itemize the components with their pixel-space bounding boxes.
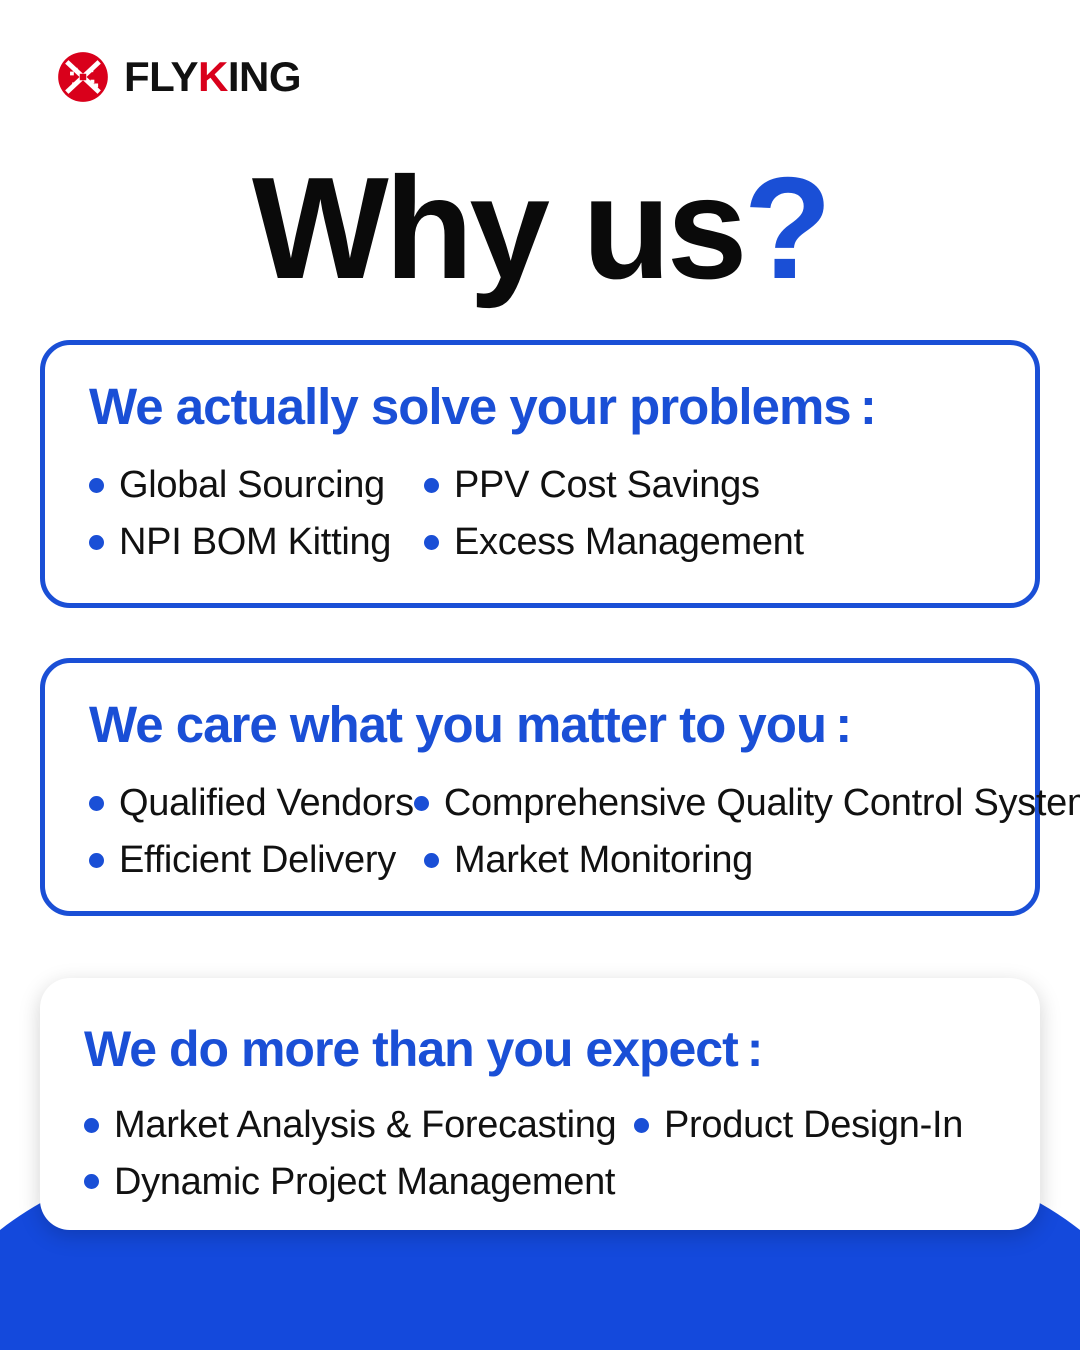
bullet-item: NPI BOM Kitting bbox=[89, 518, 424, 567]
bullet-dot-icon bbox=[634, 1118, 649, 1133]
bullet-item: Global Sourcing bbox=[89, 461, 424, 510]
bullet-item: Market Monitoring bbox=[424, 836, 753, 885]
brand-name: FLYKING bbox=[124, 56, 301, 98]
brand-name-part2: ING bbox=[228, 53, 301, 100]
bullet-row: Efficient Delivery Market Monitoring bbox=[89, 836, 991, 885]
bullet-item: Market Analysis & Forecasting bbox=[84, 1101, 634, 1150]
brand-name-k: K bbox=[198, 53, 228, 100]
benefit-card-1-heading: We actually solve your problems : bbox=[89, 379, 991, 435]
flyking-emblem-icon bbox=[56, 50, 110, 104]
bullet-dot-icon bbox=[89, 796, 104, 811]
brand-logo[interactable]: FLYKING bbox=[56, 50, 301, 104]
bullet-row: Dynamic Project Management bbox=[84, 1158, 996, 1207]
bullet-label: Market Monitoring bbox=[454, 836, 753, 885]
bullet-dot-icon bbox=[89, 853, 104, 868]
benefit-card-1-bullets: Global Sourcing PPV Cost Savings NPI BOM… bbox=[89, 461, 991, 566]
bullet-label: Qualified Vendors bbox=[119, 779, 414, 828]
bullet-label: Market Analysis & Forecasting bbox=[114, 1101, 616, 1150]
benefit-card-3: We do more than you expect : Market Anal… bbox=[40, 978, 1040, 1230]
why-us-poster: FLYKING Why us? We actually solve your p… bbox=[0, 0, 1080, 1350]
bullet-dot-icon bbox=[89, 535, 104, 550]
bullet-item: Dynamic Project Management bbox=[84, 1158, 634, 1207]
benefit-card-3-heading: We do more than you expect : bbox=[84, 1022, 996, 1077]
bullet-dot-icon bbox=[84, 1174, 99, 1189]
bullet-dot-icon bbox=[424, 853, 439, 868]
bullet-row: Qualified Vendors Comprehensive Quality … bbox=[89, 779, 991, 828]
bullet-item: Product Design-In bbox=[634, 1101, 963, 1150]
bullet-label: Efficient Delivery bbox=[119, 836, 396, 885]
bullet-row: Market Analysis & Forecasting Product De… bbox=[84, 1101, 996, 1150]
page-title: Why us? bbox=[0, 152, 1080, 304]
bullet-row: Global Sourcing PPV Cost Savings bbox=[89, 461, 991, 510]
bullet-dot-icon bbox=[89, 478, 104, 493]
brand-name-part1: FLY bbox=[124, 53, 198, 100]
bullet-label: PPV Cost Savings bbox=[454, 461, 760, 510]
bullet-item: Comprehensive Quality Control System bbox=[414, 779, 1080, 828]
page-title-question-mark: ? bbox=[744, 147, 829, 309]
bullet-dot-icon bbox=[424, 478, 439, 493]
bullet-item: Excess Management bbox=[424, 518, 804, 567]
bullet-label: Product Design-In bbox=[664, 1101, 963, 1150]
bullet-dot-icon bbox=[84, 1118, 99, 1133]
bullet-label: Dynamic Project Management bbox=[114, 1158, 615, 1207]
benefit-card-2-heading: We care what you matter to you : bbox=[89, 697, 991, 753]
bullet-item: Efficient Delivery bbox=[89, 836, 424, 885]
bullet-label: Global Sourcing bbox=[119, 461, 385, 510]
bullet-dot-icon bbox=[424, 535, 439, 550]
benefit-card-1: We actually solve your problems : Global… bbox=[40, 340, 1040, 608]
page-title-text: Why us bbox=[252, 147, 744, 309]
benefit-card-2: We care what you matter to you : Qualifi… bbox=[40, 658, 1040, 916]
bullet-label: Comprehensive Quality Control System bbox=[444, 779, 1080, 828]
bullet-label: NPI BOM Kitting bbox=[119, 518, 391, 567]
bullet-item: Qualified Vendors bbox=[89, 779, 414, 828]
bullet-dot-icon bbox=[414, 796, 429, 811]
bullet-row: NPI BOM Kitting Excess Management bbox=[89, 518, 991, 567]
benefit-card-2-bullets: Qualified Vendors Comprehensive Quality … bbox=[89, 779, 991, 884]
benefit-card-3-bullets: Market Analysis & Forecasting Product De… bbox=[84, 1101, 996, 1206]
bullet-label: Excess Management bbox=[454, 518, 804, 567]
bullet-item: PPV Cost Savings bbox=[424, 461, 760, 510]
